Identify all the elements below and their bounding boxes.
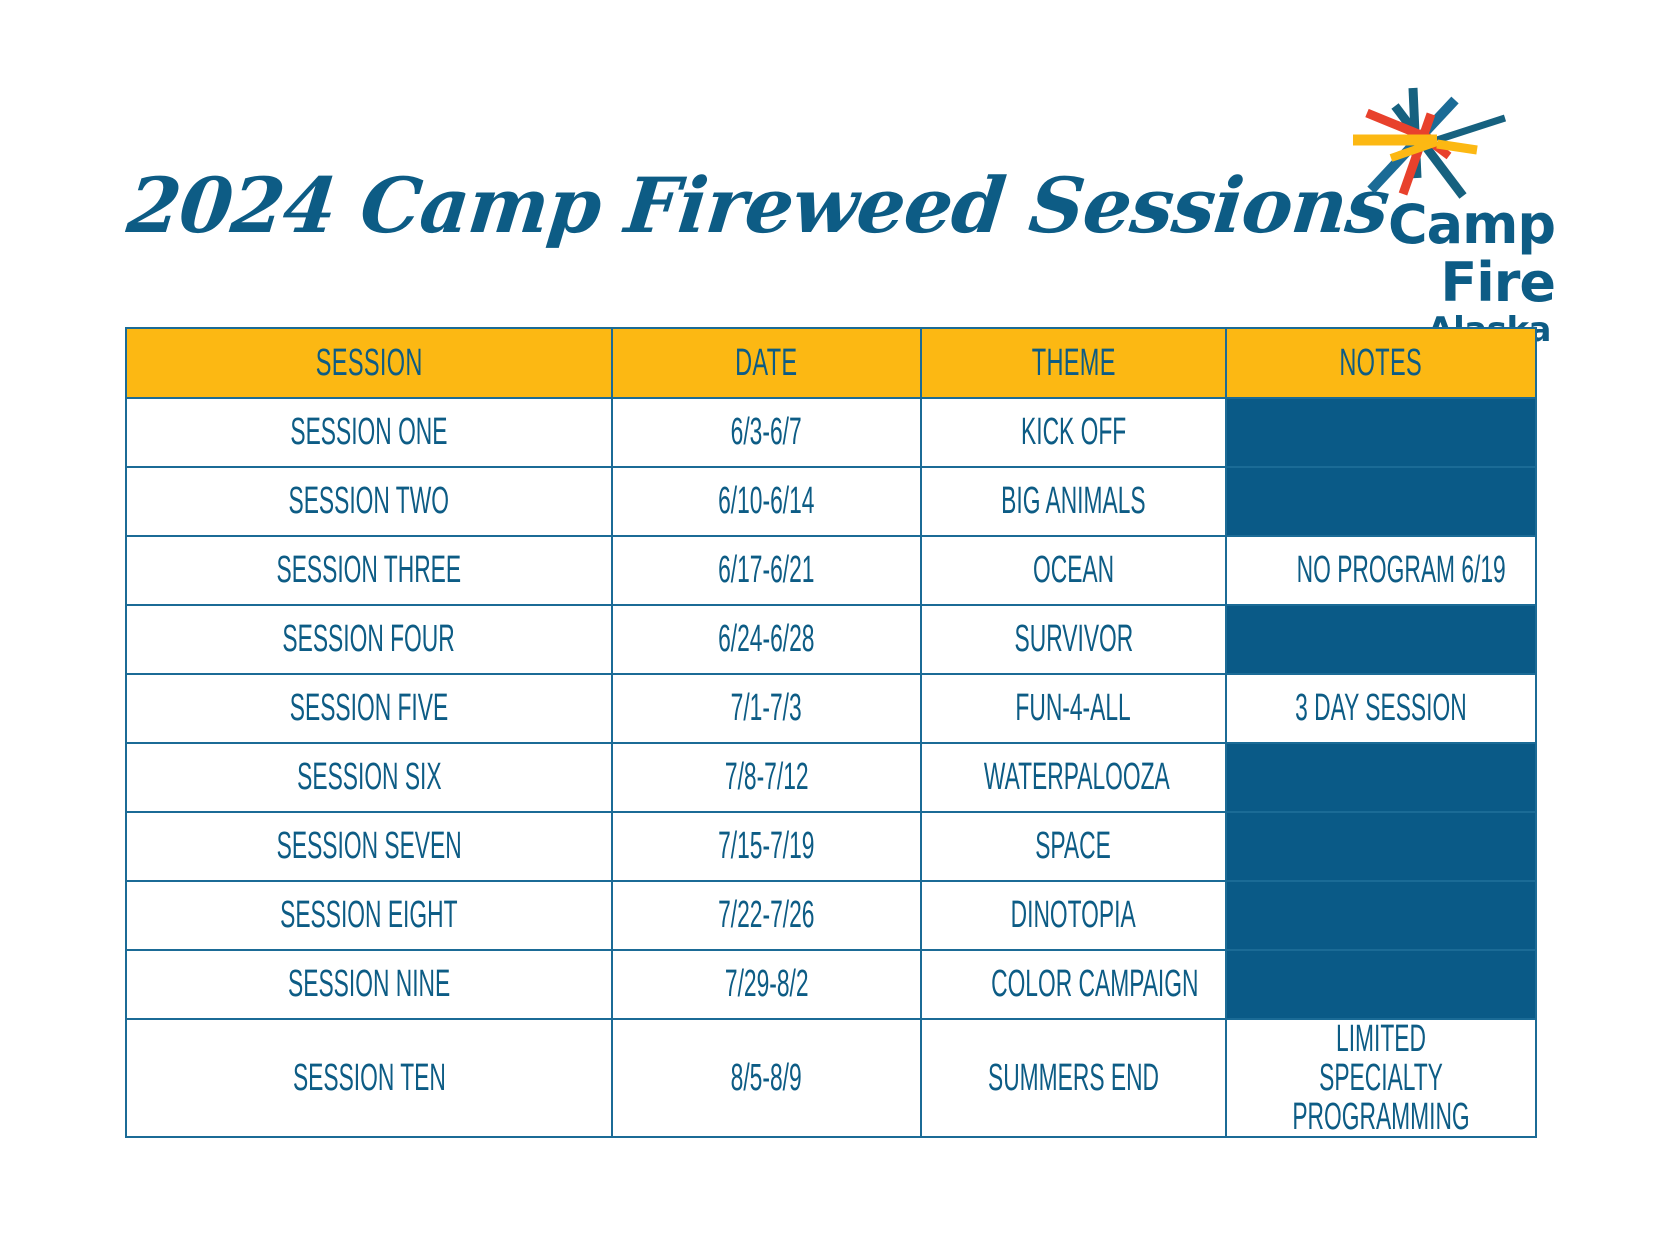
cell-theme: FUN-4-ALL <box>921 674 1226 743</box>
column-header-session: SESSION <box>126 328 612 398</box>
page-title: 2024 Camp Fireweed Sessions <box>124 168 1392 244</box>
page-header: 2024 Camp Fireweed Sessions <box>0 0 1664 315</box>
cell-session: SESSION TEN <box>126 1019 612 1137</box>
cell-session: SESSION FIVE <box>126 674 612 743</box>
cell-session: SESSION THREE <box>126 536 612 605</box>
table-row: SESSION SIX7/8-7/12WATERPALOOZA <box>126 743 1536 812</box>
column-header-date: DATE <box>612 328 921 398</box>
column-header-notes: NOTES <box>1226 328 1536 398</box>
cell-date: 6/17-6/21 <box>612 536 921 605</box>
cell-notes <box>1226 743 1536 812</box>
cell-session: SESSION FOUR <box>126 605 612 674</box>
cell-session: SESSION EIGHT <box>126 881 612 950</box>
cell-session: SESSION ONE <box>126 398 612 467</box>
cell-theme: SPACE <box>921 812 1226 881</box>
cell-notes <box>1226 950 1536 1019</box>
cell-theme: WATERPALOOZA <box>921 743 1226 812</box>
logo-name: Camp Fire <box>1265 196 1555 312</box>
table-row: SESSION FOUR6/24-6/28SURVIVOR <box>126 605 1536 674</box>
cell-theme: KICK OFF <box>921 398 1226 467</box>
table-row: SESSION THREE6/17-6/21OCEANNO PROGRAM 6/… <box>126 536 1536 605</box>
cell-theme: DINOTOPIA <box>921 881 1226 950</box>
cell-notes <box>1226 881 1536 950</box>
table-row: SESSION ONE6/3-6/7KICK OFF <box>126 398 1536 467</box>
cell-session: SESSION SIX <box>126 743 612 812</box>
table-row: SESSION FIVE7/1-7/3FUN-4-ALL3 DAY SESSIO… <box>126 674 1536 743</box>
table-body: SESSION ONE6/3-6/7KICK OFFSESSION TWO6/1… <box>126 398 1536 1137</box>
cell-date: 8/5-8/9 <box>612 1019 921 1137</box>
cell-theme: COLOR CAMPAIGN <box>921 950 1226 1019</box>
cell-notes <box>1226 812 1536 881</box>
cell-date: 7/1-7/3 <box>612 674 921 743</box>
cell-theme: OCEAN <box>921 536 1226 605</box>
cell-notes: LIMITED SPECIALTY PROGRAMMING <box>1226 1019 1536 1137</box>
logo-wordmark: Camp Fire Alaska <box>1265 196 1555 348</box>
camp-fire-alaska-logo: Camp Fire Alaska <box>1265 78 1555 298</box>
cell-date: 6/3-6/7 <box>612 398 921 467</box>
cell-session: SESSION TWO <box>126 467 612 536</box>
sessions-table: SESSION DATE THEME NOTES SESSION ONE6/3-… <box>125 327 1537 1138</box>
cell-notes <box>1226 398 1536 467</box>
cell-theme: BIG ANIMALS <box>921 467 1226 536</box>
cell-notes <box>1226 467 1536 536</box>
cell-date: 7/15-7/19 <box>612 812 921 881</box>
column-header-theme: THEME <box>921 328 1226 398</box>
table-row: SESSION TEN8/5-8/9SUMMERS ENDLIMITED SPE… <box>126 1019 1536 1137</box>
cell-notes: 3 DAY SESSION <box>1226 674 1536 743</box>
cell-theme: SUMMERS END <box>921 1019 1226 1137</box>
camp-fire-starburst-icon <box>1345 78 1525 203</box>
cell-date: 7/22-7/26 <box>612 881 921 950</box>
cell-notes: NO PROGRAM 6/19 <box>1226 536 1536 605</box>
table-row: SESSION EIGHT7/22-7/26DINOTOPIA <box>126 881 1536 950</box>
cell-notes <box>1226 605 1536 674</box>
table-row: SESSION NINE7/29-8/2COLOR CAMPAIGN <box>126 950 1536 1019</box>
cell-date: 7/29-8/2 <box>612 950 921 1019</box>
table-row: SESSION SEVEN7/15-7/19SPACE <box>126 812 1536 881</box>
cell-date: 6/10-6/14 <box>612 467 921 536</box>
cell-session: SESSION NINE <box>126 950 612 1019</box>
table-header-row: SESSION DATE THEME NOTES <box>126 328 1536 398</box>
cell-date: 6/24-6/28 <box>612 605 921 674</box>
cell-theme: SURVIVOR <box>921 605 1226 674</box>
table-header: SESSION DATE THEME NOTES <box>126 328 1536 398</box>
table-row: SESSION TWO6/10-6/14BIG ANIMALS <box>126 467 1536 536</box>
cell-session: SESSION SEVEN <box>126 812 612 881</box>
cell-date: 7/8-7/12 <box>612 743 921 812</box>
